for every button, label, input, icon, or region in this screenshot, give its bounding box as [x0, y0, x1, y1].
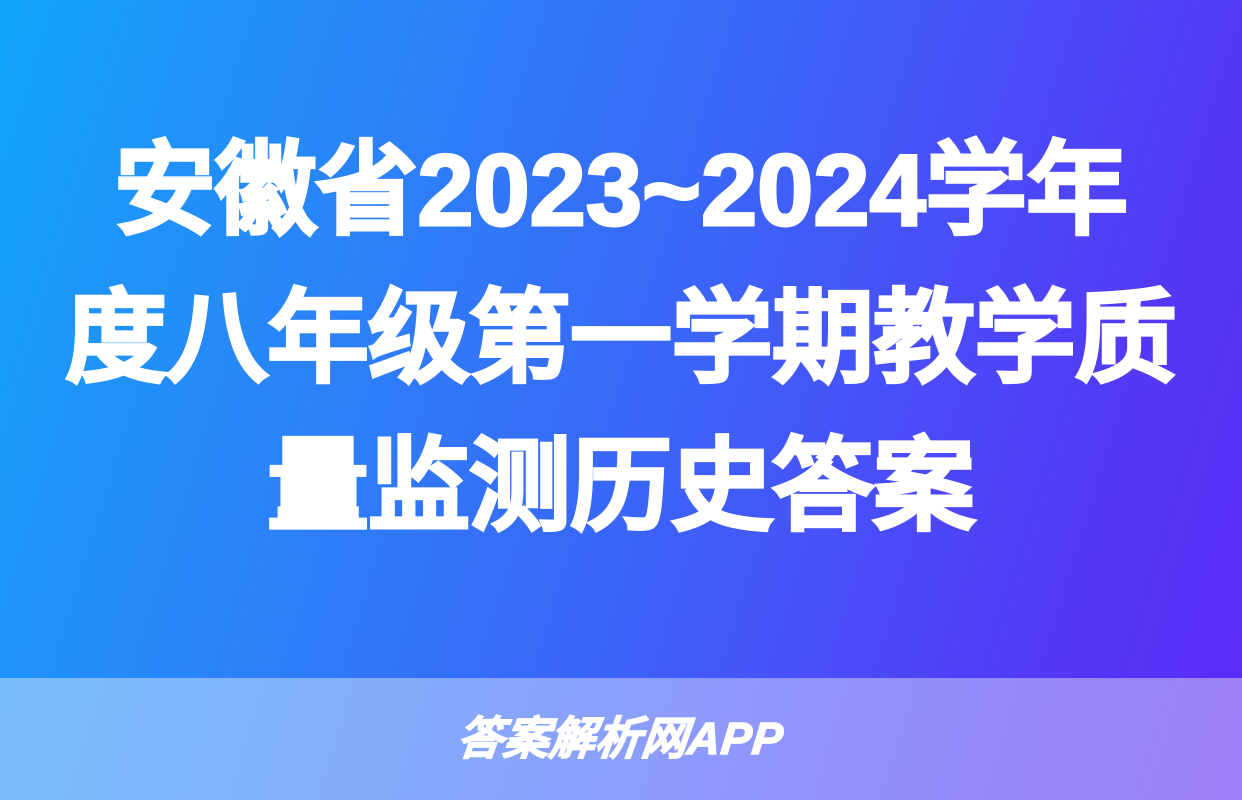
app-watermark-label: 答案解析网APP [456, 713, 787, 765]
poster-canvas: 安徽省2023~2024学年 度八年级第一学期教学质 量监测历史答案 答案解析网… [0, 0, 1242, 800]
title-line-2: 度八年级第一学期教学质 [65, 265, 1176, 413]
title-line-1: 安徽省2023~2024学年 [114, 117, 1127, 265]
title-block: 安徽省2023~2024学年 度八年级第一学期教学质 量监测历史答案 [0, 0, 1242, 678]
watermark-band: 答案解析网APP [0, 678, 1242, 800]
title-line-3: 量监测历史答案 [267, 413, 974, 561]
